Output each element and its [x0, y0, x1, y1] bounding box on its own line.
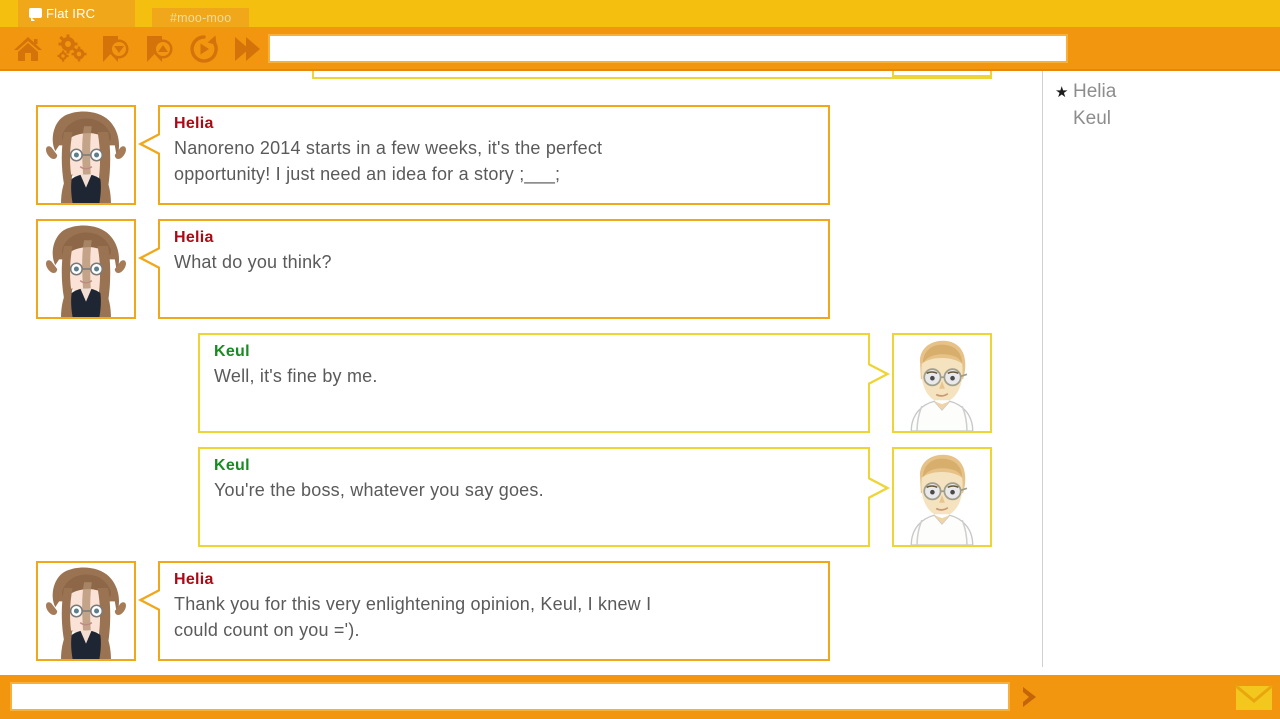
message-nick: Helia	[174, 115, 814, 133]
scrolled-message-bubble	[312, 71, 992, 79]
message-text: Well, it's fine by me.	[214, 363, 854, 389]
message-bubble: Helia Thank you for this very enlighteni…	[158, 561, 830, 661]
message-text: You're the boss, whatever you say goes.	[214, 477, 854, 503]
skip-icon[interactable]	[228, 30, 268, 68]
chat-window-icon	[29, 8, 42, 18]
message-bubble: Helia What do you think?	[158, 219, 830, 319]
message-nick: Keul	[214, 457, 854, 475]
message-row: Helia Thank you for this very enlighteni…	[36, 561, 830, 661]
message-text: Thank you for this very enlightening opi…	[174, 591, 814, 643]
message-nick: Helia	[174, 229, 814, 247]
message-bubble: Helia Nanoreno 2014 starts in a few week…	[158, 105, 830, 205]
message-nick: Keul	[214, 343, 854, 361]
message-row: Keul Well, it's fine by me.	[198, 333, 992, 433]
flat-irc-window: Flat IRC #moo-moo	[0, 0, 1280, 719]
tab-bar: Flat IRC #moo-moo	[0, 0, 1280, 27]
message-row: Keul You're the boss, whatever you say g…	[198, 447, 992, 547]
helia-avatar	[36, 105, 136, 205]
chat-log[interactable]: Helia Nanoreno 2014 starts in a few week…	[0, 71, 1040, 675]
tab-moo-moo[interactable]: #moo-moo	[152, 8, 249, 27]
user-name: Helia	[1073, 79, 1116, 105]
tab-flat-irc-label: Flat IRC	[46, 6, 95, 21]
message-row: Helia What do you think?	[36, 219, 830, 319]
message-bubble: Keul You're the boss, whatever you say g…	[198, 447, 870, 547]
toolbar	[0, 27, 1280, 71]
address-input[interactable]	[268, 34, 1068, 63]
keul-avatar	[892, 333, 992, 433]
auto-forward-icon[interactable]	[184, 30, 224, 68]
operator-star-icon: ★	[1055, 80, 1073, 106]
message-row: Helia Nanoreno 2014 starts in a few week…	[36, 105, 830, 205]
keul-avatar	[892, 447, 992, 547]
scrolled-message-avatar	[892, 71, 992, 77]
message-text: Nanoreno 2014 starts in a few weeks, it'…	[174, 135, 814, 187]
send-chevron-icon[interactable]	[1014, 683, 1046, 711]
envelope-icon[interactable]	[1232, 680, 1276, 716]
message-nick: Helia	[174, 571, 814, 589]
gears-icon[interactable]	[52, 30, 92, 68]
message-bubble: Keul Well, it's fine by me.	[198, 333, 870, 433]
message-input[interactable]	[10, 682, 1010, 711]
tab-moo-moo-label: #moo-moo	[170, 11, 231, 25]
bookmark-save-icon[interactable]	[96, 30, 136, 68]
bookmark-load-icon[interactable]	[140, 30, 180, 68]
main-area: Helia Nanoreno 2014 starts in a few week…	[0, 71, 1280, 675]
home-icon[interactable]	[8, 30, 48, 68]
user-list: ★ Helia ★ Keul	[1042, 71, 1280, 667]
user-list-item-helia[interactable]: ★ Helia	[1053, 79, 1280, 106]
message-text: What do you think?	[174, 249, 814, 275]
helia-avatar	[36, 219, 136, 319]
user-name: Keul	[1073, 106, 1111, 132]
tab-flat-irc[interactable]: Flat IRC	[18, 0, 135, 27]
helia-avatar	[36, 561, 136, 661]
bottom-bar	[0, 675, 1280, 719]
user-list-item-keul[interactable]: ★ Keul	[1053, 106, 1280, 133]
